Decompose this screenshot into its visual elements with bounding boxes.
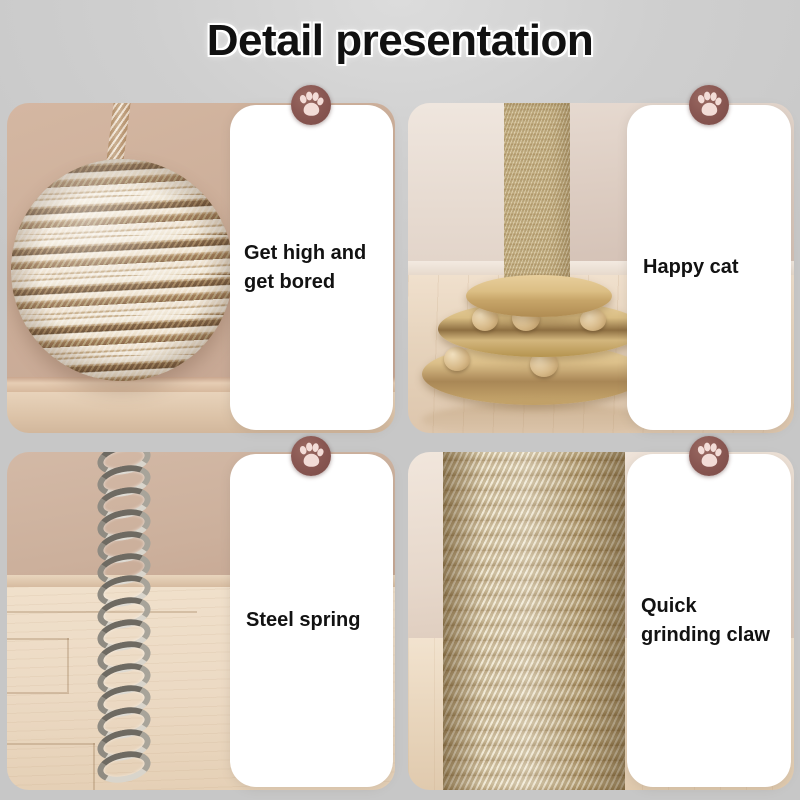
wall-corner xyxy=(408,103,508,268)
sisal-rope-column xyxy=(443,452,625,790)
column-shading xyxy=(443,452,625,790)
caption-text: Happy cat xyxy=(627,253,791,281)
caption-text: Quick grinding claw xyxy=(627,592,791,649)
turntable-top-tier xyxy=(466,275,612,317)
floor-seam xyxy=(7,692,69,694)
caption-card-rope-ball[interactable]: Get high and get bored xyxy=(230,105,393,430)
floor-seam xyxy=(7,638,69,640)
paw-icon xyxy=(291,436,331,476)
paw-icon xyxy=(291,85,331,125)
caption-card-steel-spring[interactable]: Steel spring xyxy=(230,454,393,787)
page-title: Detail presentation xyxy=(0,16,800,66)
detail-presentation-page: Detail presentation xyxy=(0,0,800,800)
ball-shading xyxy=(11,159,233,381)
sisal-post xyxy=(504,103,570,289)
floor-seam xyxy=(7,743,95,745)
floor-reflection xyxy=(422,403,652,433)
caption-card-happy-cat[interactable]: Happy cat xyxy=(627,105,791,430)
caption-card-grinding-claw[interactable]: Quick grinding claw xyxy=(627,454,791,787)
paw-icon xyxy=(689,436,729,476)
caption-text: Get high and get bored xyxy=(230,239,393,296)
steel-spring-coil xyxy=(89,452,165,790)
floor-seam xyxy=(67,638,69,692)
sisal-rope-ball xyxy=(11,159,233,381)
caption-text: Steel spring xyxy=(230,606,393,634)
paw-icon xyxy=(689,85,729,125)
wooden-ball xyxy=(444,347,470,371)
